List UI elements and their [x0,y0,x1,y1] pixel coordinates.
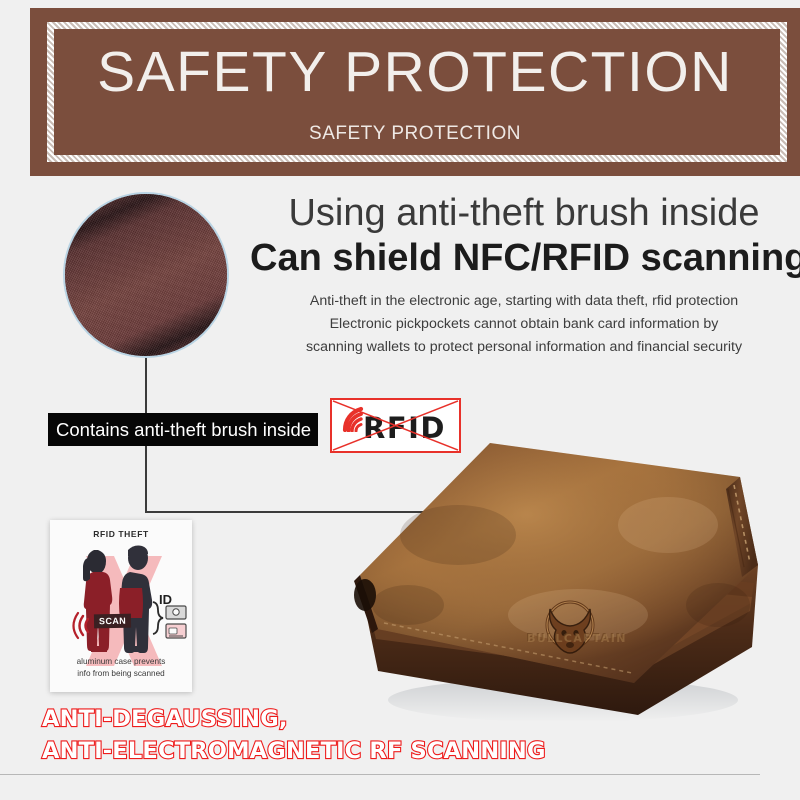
scan-waves-icon [74,613,89,638]
callout-label-text: Contains anti-theft brush inside [56,419,311,441]
wallet-illustration: BULLCAPTAIN BULLCAPTAIN [338,415,800,745]
rfid-cross-out-icon [332,400,459,451]
body-copy: Anti-theft in the electronic age, starti… [250,290,798,359]
body-copy-line-2: Electronic pickpockets cannot obtain ban… [250,313,798,336]
fabric-closeup-circle [63,192,229,358]
id-label: ID [159,592,172,607]
theft-caption-line-2: info from being scanned [50,668,192,680]
page-title: SAFETY PROTECTION [97,44,733,101]
bottom-headline-line-1: ANTI-DEGAUSSING, [42,704,546,736]
bottom-divider [0,774,760,775]
body-copy-line-3: scanning wallets to protect personal inf… [250,336,798,359]
header-banner: SAFETY PROTECTION SAFETY PROTECTION [30,8,800,176]
banner-text-group: SAFETY PROTECTION SAFETY PROTECTION [30,8,800,176]
theft-caption-line-1: aluminum case prevents [50,656,192,668]
wallet-brand-text-highlight: BULLCAPTAIN [527,632,627,645]
fabric-weave-texture [63,192,229,358]
page-subtitle: SAFETY PROTECTION [309,123,521,145]
rfid-theft-info-card: RFID THEFT SCAN ID aluminum case prevent… [50,520,192,692]
rfid-blocked-badge: RFID [330,398,461,453]
scan-badge: SCAN [94,614,131,629]
bottom-headline-line-2: ANTI-ELECTROMAGNETIC RF SCANNING [42,736,546,768]
id-bracket-icon [153,602,186,638]
callout-label: Contains anti-theft brush inside [48,413,318,446]
theft-card-title: RFID THEFT [50,529,192,539]
headline-block: Using anti-theft brush inside Can shield… [250,192,798,359]
headline-line-1: Using anti-theft brush inside [250,192,798,235]
theft-card-caption: aluminum case prevents info from being s… [50,656,192,680]
bottom-headline: ANTI-DEGAUSSING, ANTI-ELECTROMAGNETIC RF… [42,704,546,768]
body-copy-line-1: Anti-theft in the electronic age, starti… [250,290,798,313]
headline-line-2: Can shield NFC/RFID scanning [250,237,798,280]
wallet-product-image: BULLCAPTAIN BULLCAPTAIN [338,415,800,745]
